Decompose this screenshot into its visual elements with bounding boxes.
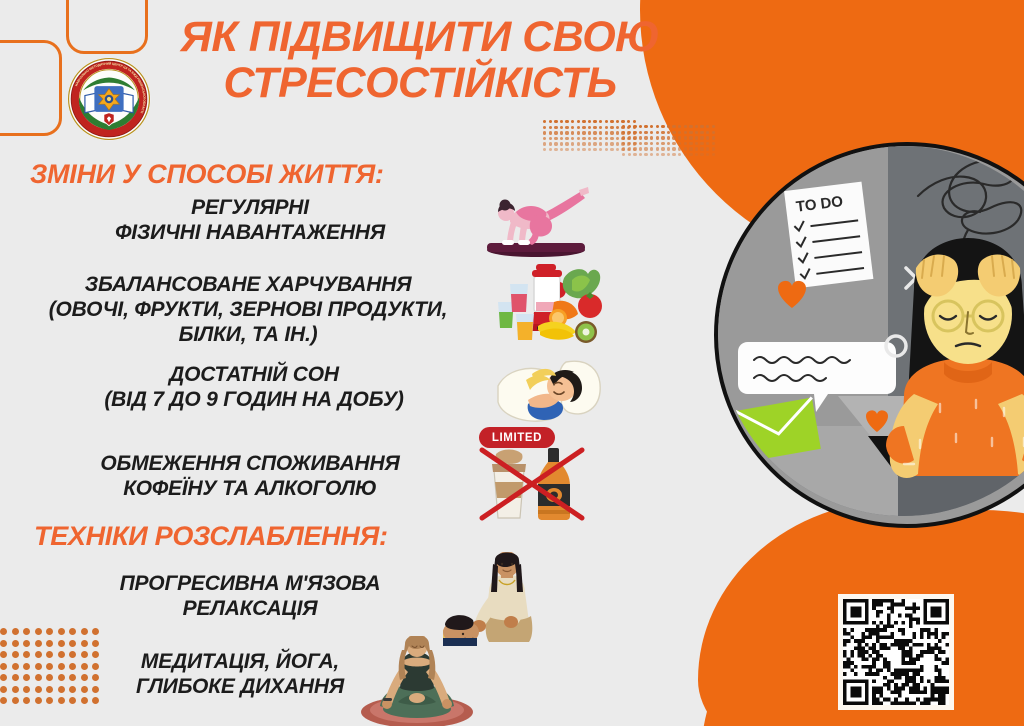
item-line: КОФЕЇНУ ТА АЛКОГОЛЮ: [40, 477, 460, 502]
item-line: ЗБАЛАНСОВАНЕ ХАРЧУВАННЯ: [18, 273, 478, 298]
organization-logo: НАВЧАЛЬНО-МЕТОДИЧНИЙ ЦЕНТР ЦЗ ТА БЖД РІВ…: [66, 56, 152, 142]
item-line: ДОСТАТНІЙ СОН: [44, 363, 464, 388]
item-line: БІЛКИ, ТА ІН.): [18, 323, 478, 348]
item-line: РЕГУЛЯРНІ: [60, 196, 440, 221]
item-line: (ОВОЧІ, ФРУКТИ, ЗЕРНОВІ ПРОДУКТИ,: [18, 298, 478, 323]
item-text-sufficient-sleep: ДОСТАТНІЙ СОН (ВІД 7 ДО 9 ГОДИН НА ДОБУ): [44, 363, 464, 413]
item-text-physical-activity: РЕГУЛЯРНІ ФІЗИЧНІ НАВАНТАЖЕННЯ: [60, 196, 440, 246]
qr-code[interactable]: [838, 594, 954, 710]
poster-title-line1: ЯК ПІДВИЩИТИ СВОЮ: [150, 14, 690, 60]
section-heading-lifestyle: ЗМІНИ У СПОСОБІ ЖИТТЯ:: [30, 160, 384, 190]
sleeping-person-icon: [496, 352, 606, 433]
item-line: РЕЛАКСАЦІЯ: [60, 597, 440, 622]
item-text-progressive-muscle-relaxation: ПРОГРЕСИВНА М'ЯЗОВА РЕЛАКСАЦІЯ: [60, 572, 440, 622]
decorative-outline-rect-left: [0, 40, 62, 136]
no-coffee-no-alcohol-icon: [476, 444, 588, 527]
item-line: ОБМЕЖЕННЯ СПОЖИВАННЯ: [40, 452, 460, 477]
poster-title: ЯК ПІДВИЩИТИ СВОЮ СТРЕСОСТІЙКІСТЬ: [150, 14, 690, 107]
meditation-lotus-icon: [358, 636, 476, 726]
healthy-food-blender-icon: [492, 256, 604, 351]
section-heading-relaxation: ТЕХНІКИ РОЗСЛАБЛЕННЯ:: [34, 522, 388, 552]
item-text-balanced-nutrition: ЗБАЛАНСОВАНЕ ХАРЧУВАННЯ (ОВОЧІ, ФРУКТИ, …: [18, 273, 478, 347]
poster-title-line2: СТРЕСОСТІЙКІСТЬ: [150, 60, 690, 106]
poster-root: НАВЧАЛЬНО-МЕТОДИЧНИЙ ЦЕНТР ЦЗ ТА БЖД РІВ…: [0, 0, 1024, 726]
item-line: ФІЗИЧНІ НАВАНТАЖЕННЯ: [60, 221, 440, 246]
item-line: (ВІД 7 ДО 9 ГОДИН НА ДОБУ): [44, 388, 464, 413]
yoga-exercise-icon: [482, 176, 590, 265]
decorative-outline-rect-top: [66, 0, 148, 54]
item-text-limit-caffeine-alcohol: ОБМЕЖЕННЯ СПОЖИВАННЯ КОФЕЇНУ ТА АЛКОГОЛЮ: [40, 452, 460, 502]
item-line: ПРОГРЕСИВНА М'ЯЗОВА: [60, 572, 440, 597]
